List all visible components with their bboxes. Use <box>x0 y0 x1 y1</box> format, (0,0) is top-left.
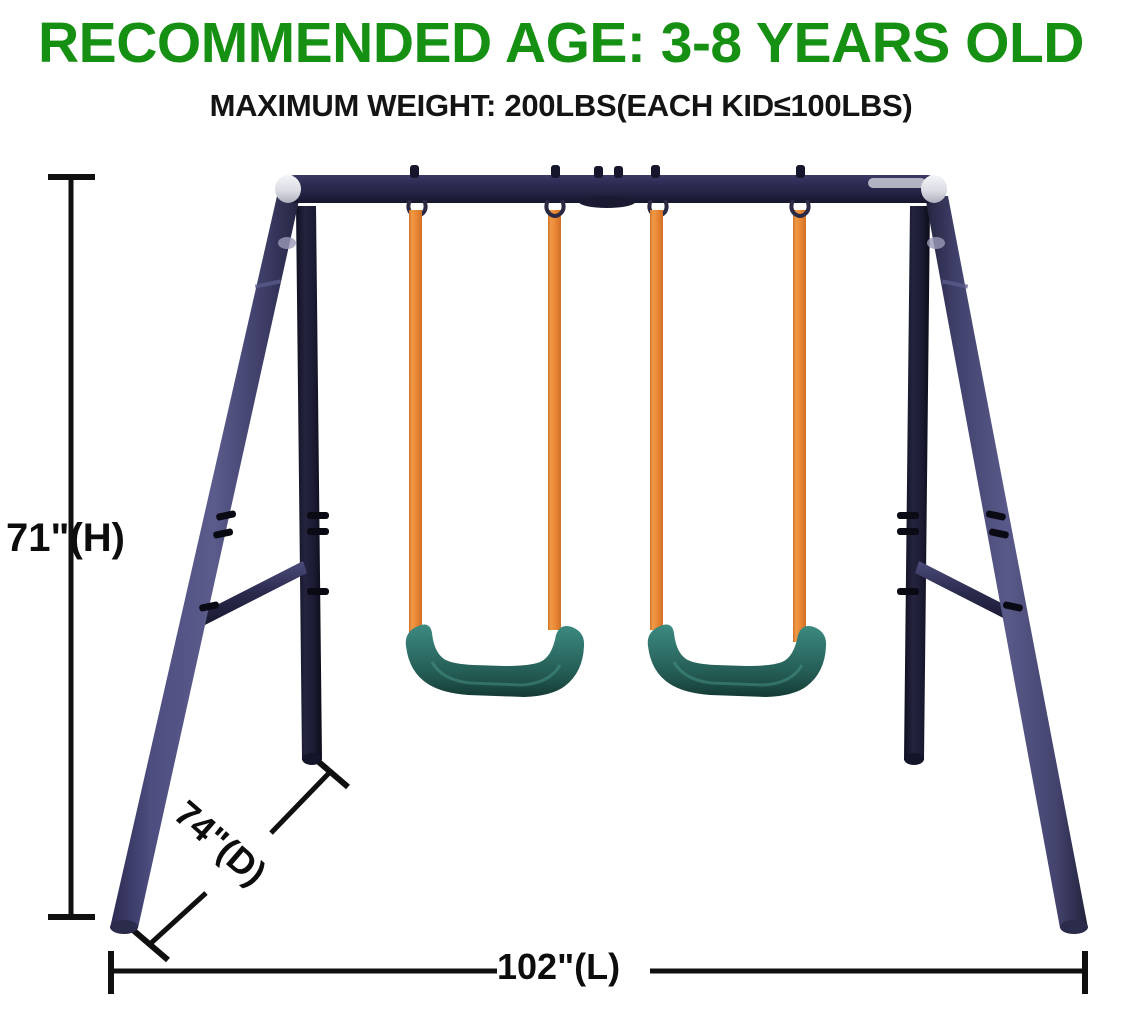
beam-end-cap-left <box>275 175 301 203</box>
rear-leg-left <box>296 206 322 760</box>
leg-foot <box>904 753 924 765</box>
bolt <box>307 528 329 535</box>
rear-leg-right <box>904 206 930 760</box>
bolt <box>410 165 419 178</box>
swing-strap <box>793 210 806 642</box>
beam-end-cap-right <box>921 175 947 203</box>
dimension-label-length: 102"(L) <box>497 947 620 987</box>
bolt <box>897 512 919 519</box>
bolt <box>614 166 623 178</box>
bolt <box>594 166 603 178</box>
frame-rear-legs <box>296 206 930 760</box>
leg-foot <box>302 753 322 765</box>
swing-set-illustration <box>0 0 1122 1010</box>
frame-front-legs <box>110 196 1088 934</box>
front-leg-right <box>925 196 1088 928</box>
product-dimension-infographic: RECOMMENDED AGE: 3-8 YEARS OLD MAXIMUM W… <box>0 0 1122 1010</box>
brand-emblem <box>927 237 945 249</box>
swing-seat <box>648 625 826 697</box>
beam-fitting <box>579 196 635 208</box>
swing-strap <box>650 210 663 630</box>
brand-emblem <box>278 237 296 249</box>
leg-foot <box>110 920 138 934</box>
bolt <box>551 165 560 178</box>
bolt <box>897 528 919 535</box>
bolt <box>307 588 329 595</box>
bolt <box>307 512 329 519</box>
swing-right <box>648 200 826 697</box>
bolt <box>796 165 805 178</box>
swing-strap <box>548 210 561 630</box>
beam-label-band <box>868 178 926 188</box>
dimension-label-height: 71"(H) <box>6 516 125 560</box>
bolt <box>651 165 660 178</box>
swing-left <box>406 200 584 697</box>
leg-foot <box>1060 920 1088 934</box>
bolt <box>897 588 919 595</box>
top-beam <box>275 175 947 249</box>
swing-seat <box>406 625 584 697</box>
swing-strap <box>409 210 422 642</box>
